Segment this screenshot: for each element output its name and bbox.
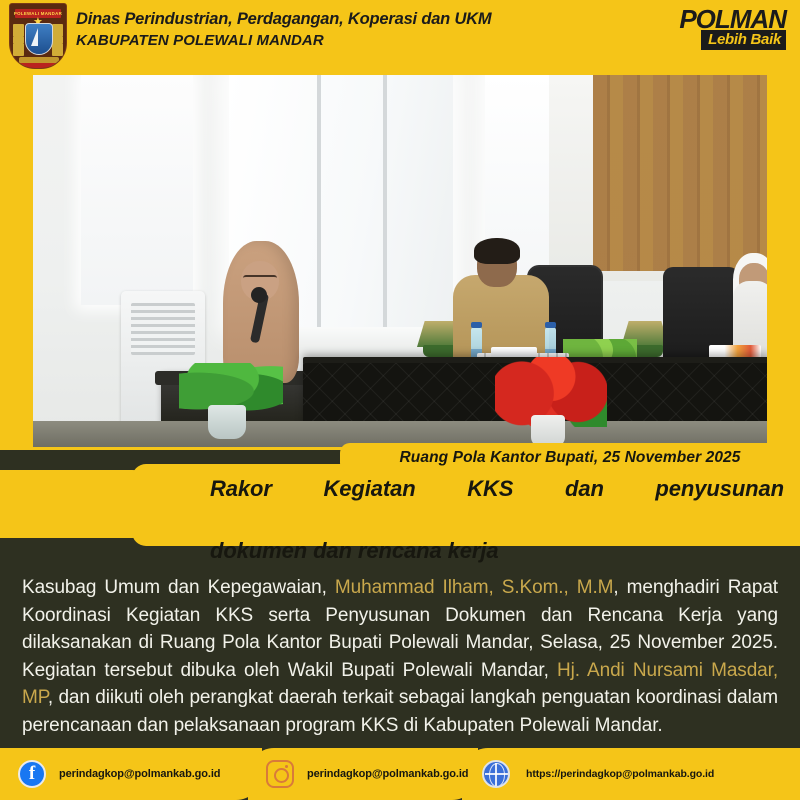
crest-sail-icon [31, 28, 38, 46]
microphone-head [251, 287, 267, 303]
speaker-glasses [243, 275, 277, 283]
poster-root: POLEWALI MANDAR ★ Dinas Perindustrian, P… [0, 0, 800, 800]
polman-wordmark: POLMAN [658, 6, 786, 32]
body-part-1: Kasubag Umum dan Kepegawaian, [22, 577, 335, 598]
title-panel: Rakor Kegiatan KKS dan penyusunan dokume… [132, 464, 800, 546]
article-body: Kasubag Umum dan Kepegawaian, Muhammad I… [22, 574, 778, 739]
polman-logo: POLMAN Lebih Baik [658, 6, 786, 64]
potted-plant-pot [208, 405, 246, 439]
headline: Rakor Kegiatan KKS dan penyusunan dokume… [210, 473, 784, 566]
website-text: https://perindagkop@polmankab.go.id [526, 768, 714, 780]
bottle-cap [545, 322, 556, 328]
globe-icon [482, 760, 510, 788]
facebook-icon [18, 760, 46, 788]
instagram-chip[interactable]: perindagkop@polmankab.go.id [248, 748, 478, 800]
ac-vent [131, 303, 195, 355]
crest-wreath-right [52, 24, 63, 56]
polman-tagline: Lebih Baik [701, 30, 786, 50]
location-date-banner: Ruang Pola Kantor Bupati, 25 November 20… [340, 443, 800, 473]
polman-tagline-wrap: Lebih Baik [658, 30, 786, 50]
window-divider-1 [317, 75, 321, 327]
agency-name: Dinas Perindustrian, Perdagangan, Kopera… [76, 8, 491, 30]
body-section: Kasubag Umum dan Kepegawaian, Muhammad I… [0, 558, 800, 748]
headline-line-1: Rakor Kegiatan KKS dan penyusunan [210, 473, 784, 535]
facebook-chip[interactable]: perindagkop@polmankab.go.id [0, 748, 262, 800]
window-divider-2 [383, 75, 387, 327]
facebook-text: perindagkop@polmankab.go.id [59, 768, 220, 780]
photo-frame [0, 72, 800, 450]
headline-line-2: dokumen dan rencana kerja [210, 535, 784, 566]
seated-official-hair [474, 238, 520, 264]
crest-base-ribbon [14, 63, 64, 68]
instagram-text: perindagkop@polmankab.go.id [307, 768, 468, 780]
header-titles: Dinas Perindustrian, Perdagangan, Kopera… [76, 8, 491, 52]
regency-crest-icon: POLEWALI MANDAR ★ [9, 3, 67, 69]
crest-wreath-left [13, 24, 24, 56]
instagram-icon [266, 760, 294, 788]
bottle-cap [471, 322, 482, 328]
page-header: POLEWALI MANDAR ★ Dinas Perindustrian, P… [0, 0, 800, 72]
crest-shield [25, 23, 53, 55]
globe-meridian [489, 763, 505, 787]
window-left [81, 75, 193, 305]
page-footer: https://perindagkop@polmankab.go.id peri… [0, 748, 800, 800]
body-part-3: , dan diikuti oleh perangkat daerah terk… [22, 687, 778, 736]
website-chip[interactable]: https://perindagkop@polmankab.go.id [462, 748, 800, 800]
regency-name: KABUPATEN POLEWALI MANDAR [76, 30, 491, 52]
meeting-photo [33, 75, 767, 447]
location-date-text: Ruang Pola Kantor Bupati, 25 November 20… [400, 449, 741, 467]
wood-wall-panel [593, 75, 767, 271]
highlight-name-1: Muhammad Ilham, S.Kom., M.M [335, 577, 613, 598]
